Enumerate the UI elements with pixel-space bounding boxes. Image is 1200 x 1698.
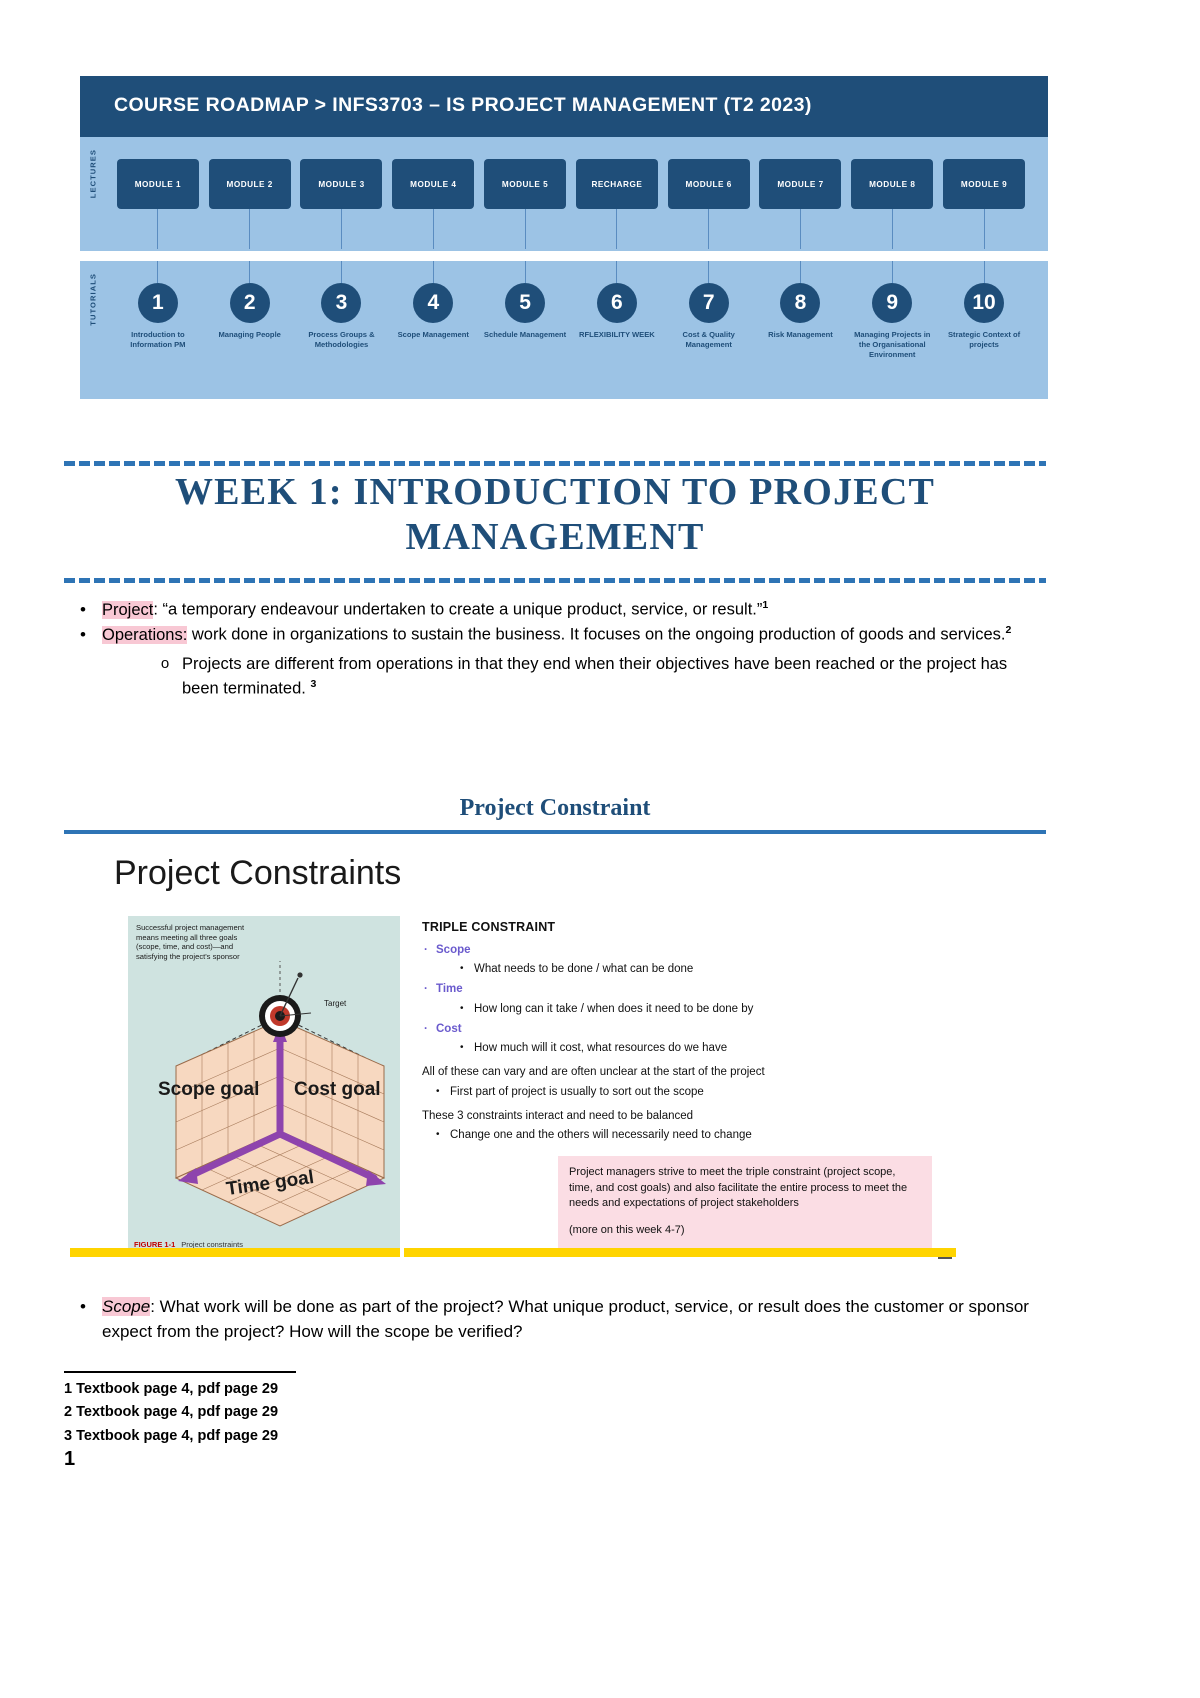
footnote-ref-3: 3 [310, 678, 316, 690]
tutorial-number-badge[interactable]: 2 [230, 283, 270, 323]
tutorial-column[interactable]: 2Managing People [204, 261, 296, 340]
tutorial-connector [433, 261, 434, 283]
tutorial-column[interactable]: 1Introduction to Information PM [112, 261, 204, 350]
tutorial-column[interactable]: 7Cost & Quality Management [663, 261, 755, 350]
section-heading-rule [64, 830, 1046, 834]
module-connector [525, 209, 526, 249]
module-column[interactable]: MODULE 2 [204, 159, 296, 249]
tutorial-number-badge[interactable]: 5 [505, 283, 545, 323]
tutorial-number-badge[interactable]: 8 [780, 283, 820, 323]
tutorial-label: Process Groups & Methodologies [298, 330, 384, 350]
module-box[interactable]: MODULE 7 [759, 159, 841, 209]
module-connector [157, 209, 158, 249]
tutorial-connector [984, 261, 985, 283]
projects-vs-operations-text: Projects are different from operations i… [182, 653, 1046, 700]
constraint-detail-cost: How much will it cost, what resources do… [422, 1040, 942, 1057]
sub-list-item: o Projects are different from operations… [64, 653, 1046, 700]
axis-label-cost: Cost goal [294, 1080, 381, 1100]
tutorial-label: Managing People [207, 330, 293, 340]
footnote-separator [64, 1371, 296, 1373]
page-number: 1 [64, 1448, 75, 1471]
module-box[interactable]: MODULE 4 [392, 159, 474, 209]
tutorial-connector [157, 261, 158, 283]
tutorial-column[interactable]: 10Strategic Context of projects [938, 261, 1030, 350]
footnote-list: 1 Textbook page 4, pdf page 29 2 Textboo… [64, 1378, 664, 1448]
tutorial-number-badge[interactable]: 6 [597, 283, 637, 323]
list-item: • Operations: work done in organizations… [64, 623, 1046, 647]
definitions-list: • Project: “a temporary endeavour undert… [64, 598, 1046, 702]
tutorial-connector [616, 261, 617, 283]
module-box[interactable]: MODULE 6 [668, 159, 750, 209]
tutorial-number-badge[interactable]: 3 [321, 283, 361, 323]
module-box[interactable]: MODULE 2 [209, 159, 291, 209]
project-definition-text: : “a temporary endeavour undertaken to c… [153, 601, 762, 619]
tutorial-number-badge[interactable]: 9 [872, 283, 912, 323]
triple-constraint-heading: TRIPLE CONSTRAINT [422, 918, 942, 937]
module-column[interactable]: MODULE 6 [663, 159, 755, 249]
module-box[interactable]: MODULE 8 [851, 159, 933, 209]
module-list: MODULE 1MODULE 2MODULE 3MODULE 4MODULE 5… [106, 137, 1048, 249]
lectures-rail: LECTURES MODULE 1MODULE 2MODULE 3MODULE … [80, 137, 1048, 251]
module-box[interactable]: MODULE 3 [300, 159, 382, 209]
tutorials-rail-label: TUTORIALS [80, 261, 106, 338]
module-column[interactable]: MODULE 3 [296, 159, 388, 249]
highlight-bar-left [70, 1248, 400, 1257]
operations-term: Operations: [102, 626, 187, 644]
operations-definition-text: work done in organizations to sustain th… [187, 626, 1005, 644]
tutorial-column[interactable]: 5Schedule Management [479, 261, 571, 340]
tutorial-connector [708, 261, 709, 283]
triple-constraint-text: TRIPLE CONSTRAINT Scope What needs to be… [422, 918, 942, 1146]
tutorial-label: Risk Management [757, 330, 843, 340]
scope-term: Scope [102, 1297, 150, 1316]
module-column[interactable]: MODULE 8 [846, 159, 938, 249]
tutorial-column[interactable]: 4Scope Management [387, 261, 479, 340]
module-column[interactable]: MODULE 5 [479, 159, 571, 249]
footnote-2: 2 Textbook page 4, pdf page 29 [64, 1401, 664, 1424]
module-box[interactable]: RECHARGE [576, 159, 658, 209]
project-definition: Project: “a temporary endeavour undertak… [102, 598, 1046, 622]
tutorial-label: Cost & Quality Management [666, 330, 752, 350]
module-column[interactable]: MODULE 9 [938, 159, 1030, 249]
constraints-vary-bullet: First part of project is usually to sort… [422, 1084, 942, 1101]
callout-box: Project managers strive to meet the trip… [558, 1156, 932, 1249]
tutorial-list: 1Introduction to Information PM2Managing… [106, 261, 1048, 374]
module-column[interactable]: RECHARGE [571, 159, 663, 249]
module-column[interactable]: MODULE 4 [387, 159, 479, 249]
tutorial-label: Managing Projects in the Organisational … [849, 330, 935, 360]
constraint-term-time: Time [422, 981, 942, 998]
constraints-vary-note: All of these can vary and are often uncl… [422, 1064, 942, 1081]
highlight-bar-right [404, 1248, 956, 1257]
bullet-marker: • [64, 598, 102, 622]
module-connector [341, 209, 342, 249]
constraint-detail-time: How long can it take / when does it need… [422, 1001, 942, 1018]
operations-definition: Operations: work done in organizations t… [102, 623, 1046, 647]
tutorial-connector [892, 261, 893, 283]
roadmap-divider [80, 251, 1048, 261]
tutorial-label: Scope Management [390, 330, 476, 340]
tutorials-rail: TUTORIALS 1Introduction to Information P… [80, 261, 1048, 399]
module-box[interactable]: MODULE 1 [117, 159, 199, 209]
scope-definition-text: : What work will be done as part of the … [102, 1297, 1029, 1341]
tutorial-connector [341, 261, 342, 283]
heading-rule-bottom [64, 578, 1046, 583]
roadmap-body: LECTURES MODULE 1MODULE 2MODULE 3MODULE … [80, 137, 1048, 399]
bullet-marker: • [64, 623, 102, 647]
module-connector [616, 209, 617, 249]
module-box[interactable]: MODULE 9 [943, 159, 1025, 209]
tutorial-connector [800, 261, 801, 283]
tutorial-connector [525, 261, 526, 283]
tutorial-connector [249, 261, 250, 283]
section-heading: Project Constraint [64, 795, 1046, 822]
bullet-marker: • [64, 1295, 102, 1319]
tutorial-number-badge[interactable]: 4 [413, 283, 453, 323]
callout-line-1: Project managers strive to meet the trip… [569, 1165, 921, 1212]
constraint-term-scope: Scope [422, 942, 942, 959]
module-column[interactable]: MODULE 7 [755, 159, 847, 249]
footnote-3: 3 Textbook page 4, pdf page 29 [64, 1425, 664, 1448]
tutorial-number-badge[interactable]: 7 [689, 283, 729, 323]
footnote-1: 1 Textbook page 4, pdf page 29 [64, 1378, 664, 1401]
constraints-balance-note: These 3 constraints interact and need to… [422, 1108, 942, 1125]
module-connector [708, 209, 709, 249]
module-connector [892, 209, 893, 249]
tutorial-label: Schedule Management [482, 330, 568, 340]
tutorial-label: Introduction to Information PM [115, 330, 201, 350]
course-roadmap-banner: COURSE ROADMAP > INFS3703 – IS PROJECT M… [80, 76, 1048, 399]
slide-project-constraints: Project Constraints Successful project m… [66, 840, 966, 1280]
tutorial-column[interactable]: 3Process Groups & Methodologies [296, 261, 388, 350]
module-connector [984, 209, 985, 249]
slide-edge-dash [938, 1257, 952, 1259]
heading-rule-top [64, 461, 1046, 466]
tutorial-column[interactable]: 8Risk Management [755, 261, 847, 340]
list-item: • Scope: What work will be done as part … [64, 1295, 1046, 1344]
tutorial-label: Strategic Context of projects [941, 330, 1027, 350]
tutorial-number-badge[interactable]: 10 [964, 283, 1004, 323]
tutorial-column[interactable]: 9Managing Projects in the Organisational… [846, 261, 938, 360]
module-column[interactable]: MODULE 1 [112, 159, 204, 249]
tutorial-column[interactable]: 6RFLEXIBILITY WEEK [571, 261, 663, 340]
project-constraints-figure: Successful project management means meet… [128, 916, 400, 1252]
footnote-ref-2: 2 [1005, 624, 1011, 636]
sub-bullet-marker: o [148, 653, 182, 674]
module-box[interactable]: MODULE 5 [484, 159, 566, 209]
module-connector [249, 209, 250, 249]
footnote-ref-1: 1 [762, 599, 768, 611]
scope-definition: • Scope: What work will be done as part … [64, 1295, 1046, 1345]
axis-label-scope: Scope goal [158, 1080, 259, 1100]
list-item: • Project: “a temporary endeavour undert… [64, 598, 1046, 622]
sub-bullet-body: Projects are different from operations i… [182, 655, 1007, 697]
page-title: WEEK 1: INTRODUCTION TO PROJECT MANAGEME… [64, 470, 1046, 560]
slide-title: Project Constraints [114, 854, 401, 893]
constraints-balance-bullet: Change one and the others will necessari… [422, 1127, 942, 1144]
lectures-rail-label: LECTURES [80, 137, 106, 210]
constraint-term-cost: Cost [422, 1021, 942, 1038]
module-connector [800, 209, 801, 249]
callout-line-2: (more on this week 4-7) [569, 1223, 921, 1239]
roadmap-title: COURSE ROADMAP > INFS3703 – IS PROJECT M… [80, 76, 1048, 137]
tutorial-label: RFLEXIBILITY WEEK [574, 330, 660, 340]
constraint-detail-scope: What needs to be done / what can be done [422, 961, 942, 978]
tutorial-number-badge[interactable]: 1 [138, 283, 178, 323]
project-term: Project [102, 601, 153, 619]
module-connector [433, 209, 434, 249]
